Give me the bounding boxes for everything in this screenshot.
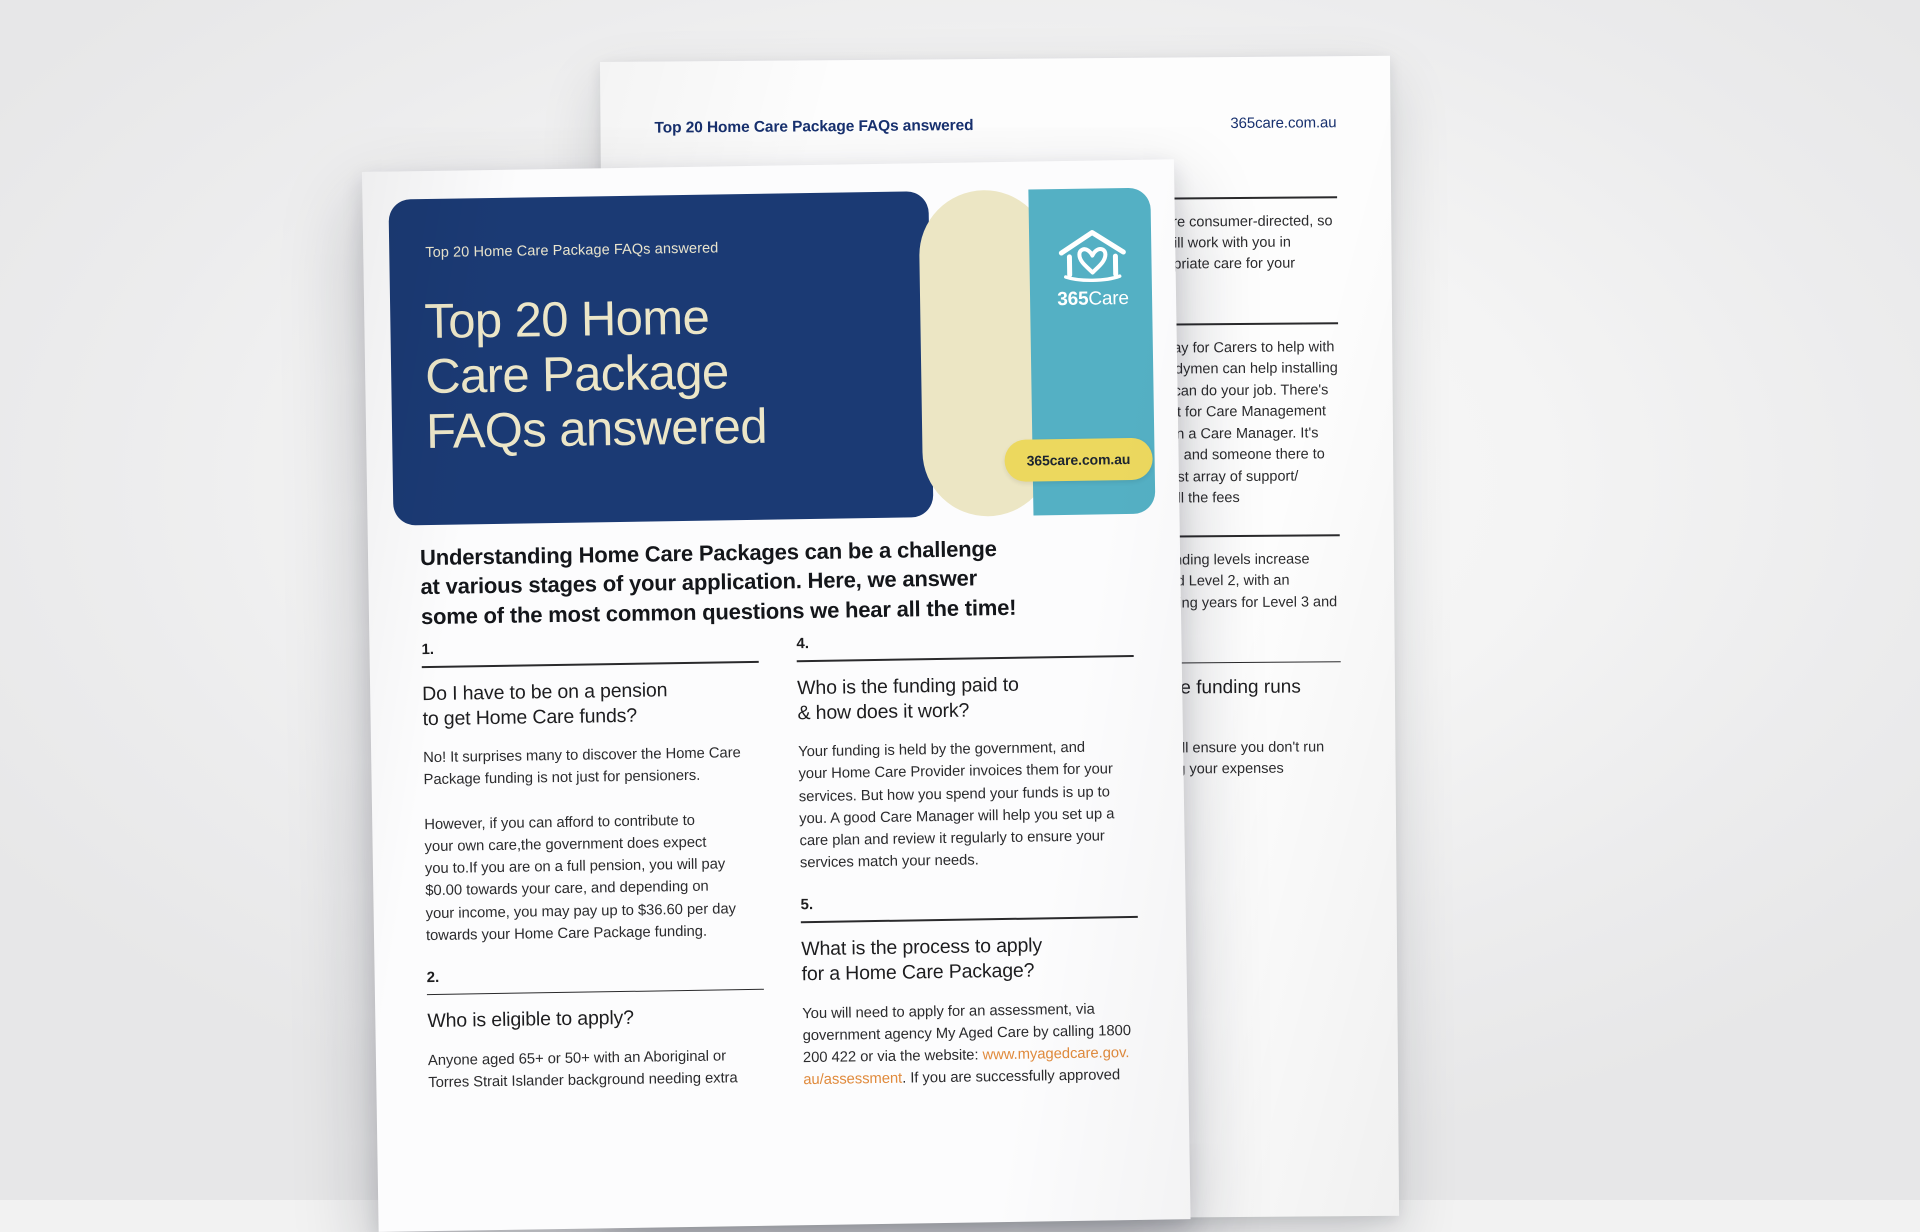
faq-answer: You will need to apply for an assessment… xyxy=(802,997,1140,1091)
front-page-sheet: Top 20 Home Care Package FAQs answered T… xyxy=(362,159,1191,1232)
faq-number: 2. xyxy=(427,964,764,986)
faq-left-column: 1. Do I have to be on a pension to get H… xyxy=(421,636,765,1119)
divider xyxy=(422,661,759,668)
house-heart-icon xyxy=(1055,226,1130,285)
brand-logo: 365Care xyxy=(1044,226,1141,311)
faq-number: 4. xyxy=(796,630,1133,652)
faq-columns: 1. Do I have to be on a pension to get H… xyxy=(421,630,1140,1119)
faq-item-5: 5. What is the process to apply for a Ho… xyxy=(800,891,1140,1091)
faq-answer-post: . If you are successfully approved xyxy=(902,1067,1120,1086)
back-page-header: Top 20 Home Care Package FAQs answered 3… xyxy=(654,114,1336,137)
faq-right-column: 4. Who is the funding paid to & how does… xyxy=(796,630,1140,1113)
faq-answer: Anyone aged 65+ or 50+ with an Aborigina… xyxy=(428,1045,766,1095)
faq-question: Do I have to be on a pension to get Home… xyxy=(422,676,760,732)
intro-paragraph: Understanding Home Care Packages can be … xyxy=(420,532,1121,631)
faq-item-1: 1. Do I have to be on a pension to get H… xyxy=(421,636,763,947)
brand-wordmark-word: Care xyxy=(1088,288,1129,310)
page-title: Top 20 Home Care Package FAQs answered xyxy=(424,288,907,460)
hero-banner: Top 20 Home Care Package FAQs answered T… xyxy=(388,188,1155,526)
divider xyxy=(801,916,1138,923)
back-page-header-title: Top 20 Home Care Package FAQs answered xyxy=(654,117,973,138)
website-badge[interactable]: 365care.com.au xyxy=(1004,438,1152,482)
faq-question: What is the process to apply for a Home … xyxy=(801,932,1139,988)
faq-item-4: 4. Who is the funding paid to & how does… xyxy=(796,630,1137,875)
divider xyxy=(427,989,764,996)
back-page-header-url: 365care.com.au xyxy=(1230,114,1336,132)
brand-wordmark: 365Care xyxy=(1045,288,1141,312)
faq-number: 1. xyxy=(421,636,758,658)
faq-question: Who is the funding paid to & how does it… xyxy=(797,670,1135,726)
faq-answer: Your funding is held by the government, … xyxy=(798,736,1137,874)
divider xyxy=(797,655,1134,662)
faq-item-2: 2. Who is eligible to apply? Anyone aged… xyxy=(427,964,766,1094)
brand-wordmark-num: 365 xyxy=(1057,289,1088,310)
faq-question: Who is eligible to apply? xyxy=(427,1004,764,1035)
faq-answer: No! It surprises many to discover the Ho… xyxy=(423,742,763,947)
faq-number: 5. xyxy=(800,891,1137,913)
